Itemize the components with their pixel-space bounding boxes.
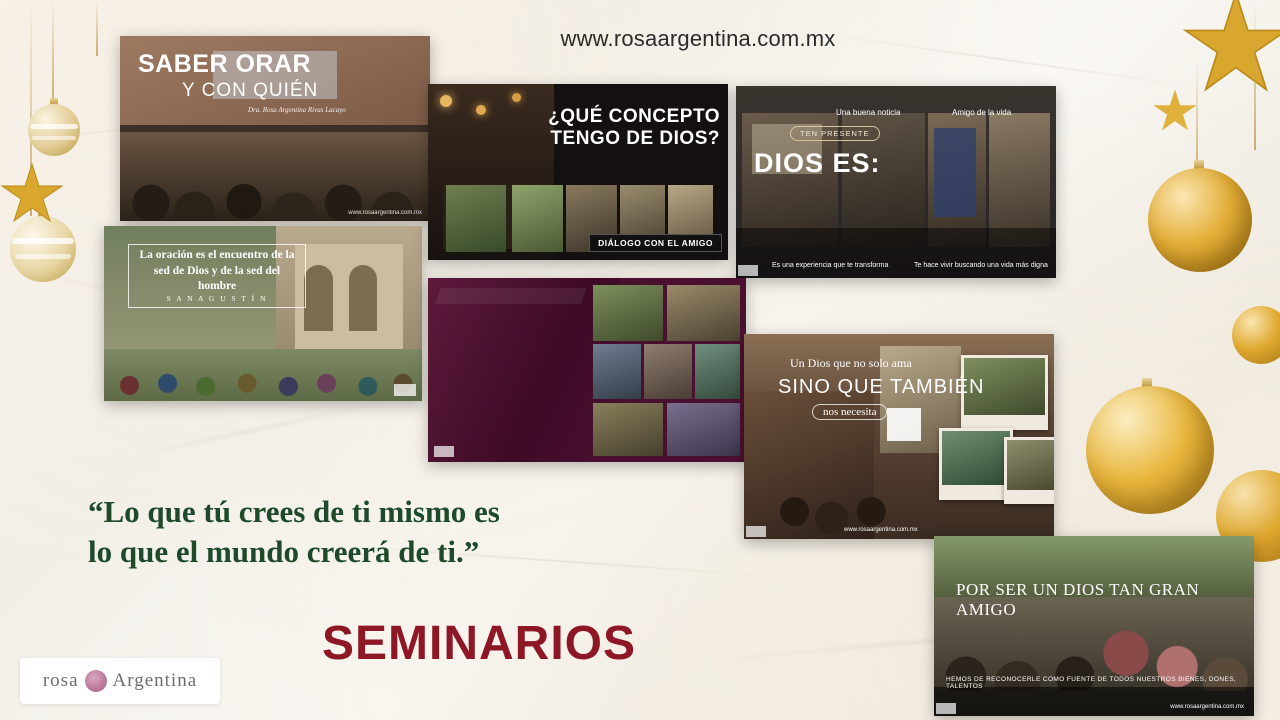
card-saber-orar[interactable]: SABER ORAR Y CON QUIÉN Dra. Rosa Argenti… <box>120 36 430 221</box>
quote-line-2: lo que el mundo creerá de ti.” <box>88 532 708 572</box>
card-dios-es-bottom-left: Es una experiencia que te transforma <box>772 262 888 269</box>
card-que-concepto[interactable]: ¿QUÉ CONCEPTO TENGO DE DIOS? DIÁLOGO CON… <box>428 84 728 260</box>
card-por-ser-un-dios-footer: www.rosaargentina.com.mx <box>1170 704 1244 710</box>
card-un-dios-line2: SINO QUE TAMBIÉN <box>778 376 984 399</box>
card-por-ser-un-dios-subtitle: HEMOS DE RECONOCERLE COMO FUENTE DE TODO… <box>946 676 1254 690</box>
logo-word-argentina: Argentina <box>113 670 198 692</box>
card-por-ser-un-dios-title: POR SER UN DIOS TAN GRAN AMIGO <box>956 580 1254 620</box>
card-saber-orar-title: SABER ORAR <box>138 50 311 79</box>
marble-vein <box>123 403 378 459</box>
card-la-oracion-text: La oración es el encuentro de la sed de … <box>134 248 300 295</box>
page-title: SEMINARIOS <box>322 616 742 671</box>
card-saber-orar-subtitle: Y CON QUIÉN <box>182 80 318 102</box>
card-dios-es-small-right: Amigo de la vida <box>952 108 1011 117</box>
gold-star-top-right-small <box>1152 88 1198 139</box>
quote-line-1: “Lo que tú crees de ti mismo es <box>88 492 708 532</box>
card-cuando-dios-es[interactable]: CUANDO DIOS ES EXPERIMENTADO COMO BONDAD… <box>428 278 746 462</box>
card-dios-es-bottom-right: Te hace vivir buscando una vida más dign… <box>914 262 1048 269</box>
card-la-oracion-attribution: S A N A G U S T Í N <box>134 294 300 303</box>
ornament-string <box>96 0 98 56</box>
card-que-concepto-tag: DIÁLOGO CON EL AMIGO <box>589 234 722 252</box>
card-saber-orar-footer: www.rosaargentina.com.mx <box>348 210 422 216</box>
card-dios-es-small-left: Una buena noticia <box>836 108 901 117</box>
website-url: www.rosaargentina.com.mx <box>528 26 868 52</box>
ornament-string <box>1254 0 1256 150</box>
card-la-oracion[interactable]: La oración es el encuentro de la sed de … <box>104 226 422 401</box>
logo-word-rosa: rosa <box>43 670 79 692</box>
card-dios-es-title: DIOS ES: <box>754 148 881 179</box>
card-por-ser-un-dios[interactable]: POR SER UN DIOS TAN GRAN AMIGO HEMOS DE … <box>934 536 1254 716</box>
card-saber-orar-author: Dra. Rosa Argentina Rivas Lacayo <box>248 106 346 114</box>
card-un-dios-footer: www.rosaargentina.com.mx <box>844 527 918 533</box>
card-dios-es[interactable]: Una buena noticia Amigo de la vida TEN P… <box>736 86 1056 278</box>
card-que-concepto-title-line1: ¿QUÉ CONCEPTO <box>540 106 720 128</box>
card-un-dios-line3: nos necesita <box>812 404 887 420</box>
card-dios-es-pill: TEN PRESENTE <box>790 126 880 141</box>
brand-logo[interactable]: rosa Argentina <box>20 658 220 704</box>
quote-text: “Lo que tú crees de ti mismo es lo que e… <box>88 492 708 571</box>
gold-star-left <box>0 162 64 231</box>
card-que-concepto-title-line2: TENGO DE DIOS? <box>540 128 720 150</box>
card-un-dios-que-no-solo-ama[interactable]: Un Dios que no solo ama SINO QUE TAMBIÉN… <box>744 334 1054 539</box>
marble-vein <box>822 34 1198 88</box>
card-cuando-dios-es-image <box>428 278 746 462</box>
card-un-dios-line1: Un Dios que no solo ama <box>790 356 912 371</box>
rose-icon <box>85 670 107 692</box>
ornament-string <box>52 0 54 104</box>
